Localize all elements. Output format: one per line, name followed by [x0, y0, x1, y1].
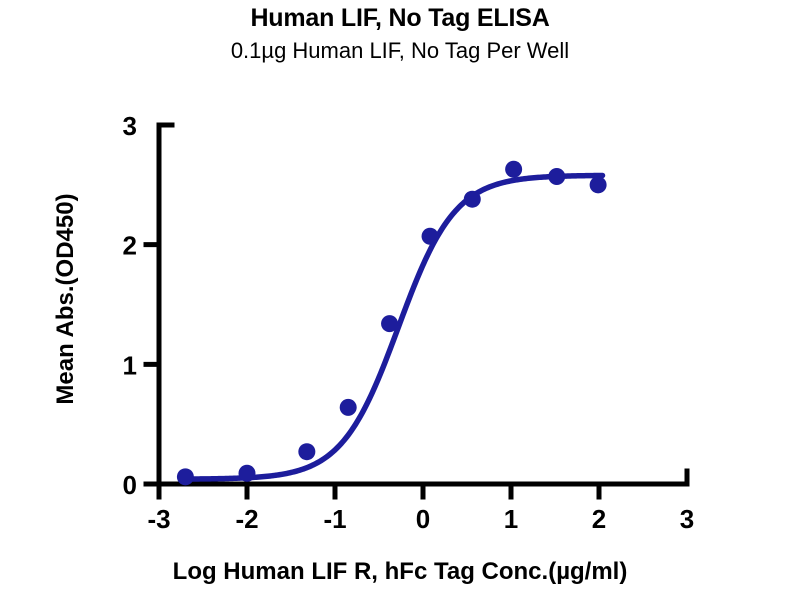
data-point-0-8: [548, 168, 565, 185]
axis-tick-labels-group: -3-2-101230123: [123, 111, 695, 534]
axis-ticks-group: [146, 125, 687, 497]
x-tick-label-4: 1: [504, 504, 518, 534]
data-point-0-4: [381, 315, 398, 332]
y-tick-label-3: 3: [123, 111, 137, 141]
y-tick-label-2: 2: [123, 231, 137, 261]
data-point-0-5: [422, 228, 439, 245]
data-point-0-3: [340, 399, 357, 416]
data-point-0-2: [298, 443, 315, 460]
x-tick-label-6: 3: [680, 504, 694, 534]
axes-group: [159, 125, 687, 484]
x-axis-title: Log Human LIF R, hFc Tag Conc.(µg/ml): [0, 558, 800, 586]
data-point-0-6: [464, 191, 481, 208]
elisa-chart-figure: Human LIF, No Tag ELISA 0.1µg Human LIF,…: [0, 0, 800, 600]
y-tick-label-1: 1: [123, 350, 137, 380]
y-tick-label-0: 0: [123, 470, 137, 500]
x-tick-label-1: -2: [235, 504, 258, 534]
x-tick-label-3: 0: [416, 504, 430, 534]
data-point-0-7: [505, 161, 522, 178]
data-point-0-9: [590, 176, 607, 193]
x-tick-label-5: 2: [592, 504, 606, 534]
x-tick-label-0: -3: [147, 504, 170, 534]
data-points-group: [177, 161, 607, 486]
data-point-0-1: [239, 465, 256, 482]
data-point-0-0: [177, 468, 194, 485]
plot-area: -3-2-101230123: [0, 0, 800, 600]
x-tick-label-2: -1: [323, 504, 346, 534]
